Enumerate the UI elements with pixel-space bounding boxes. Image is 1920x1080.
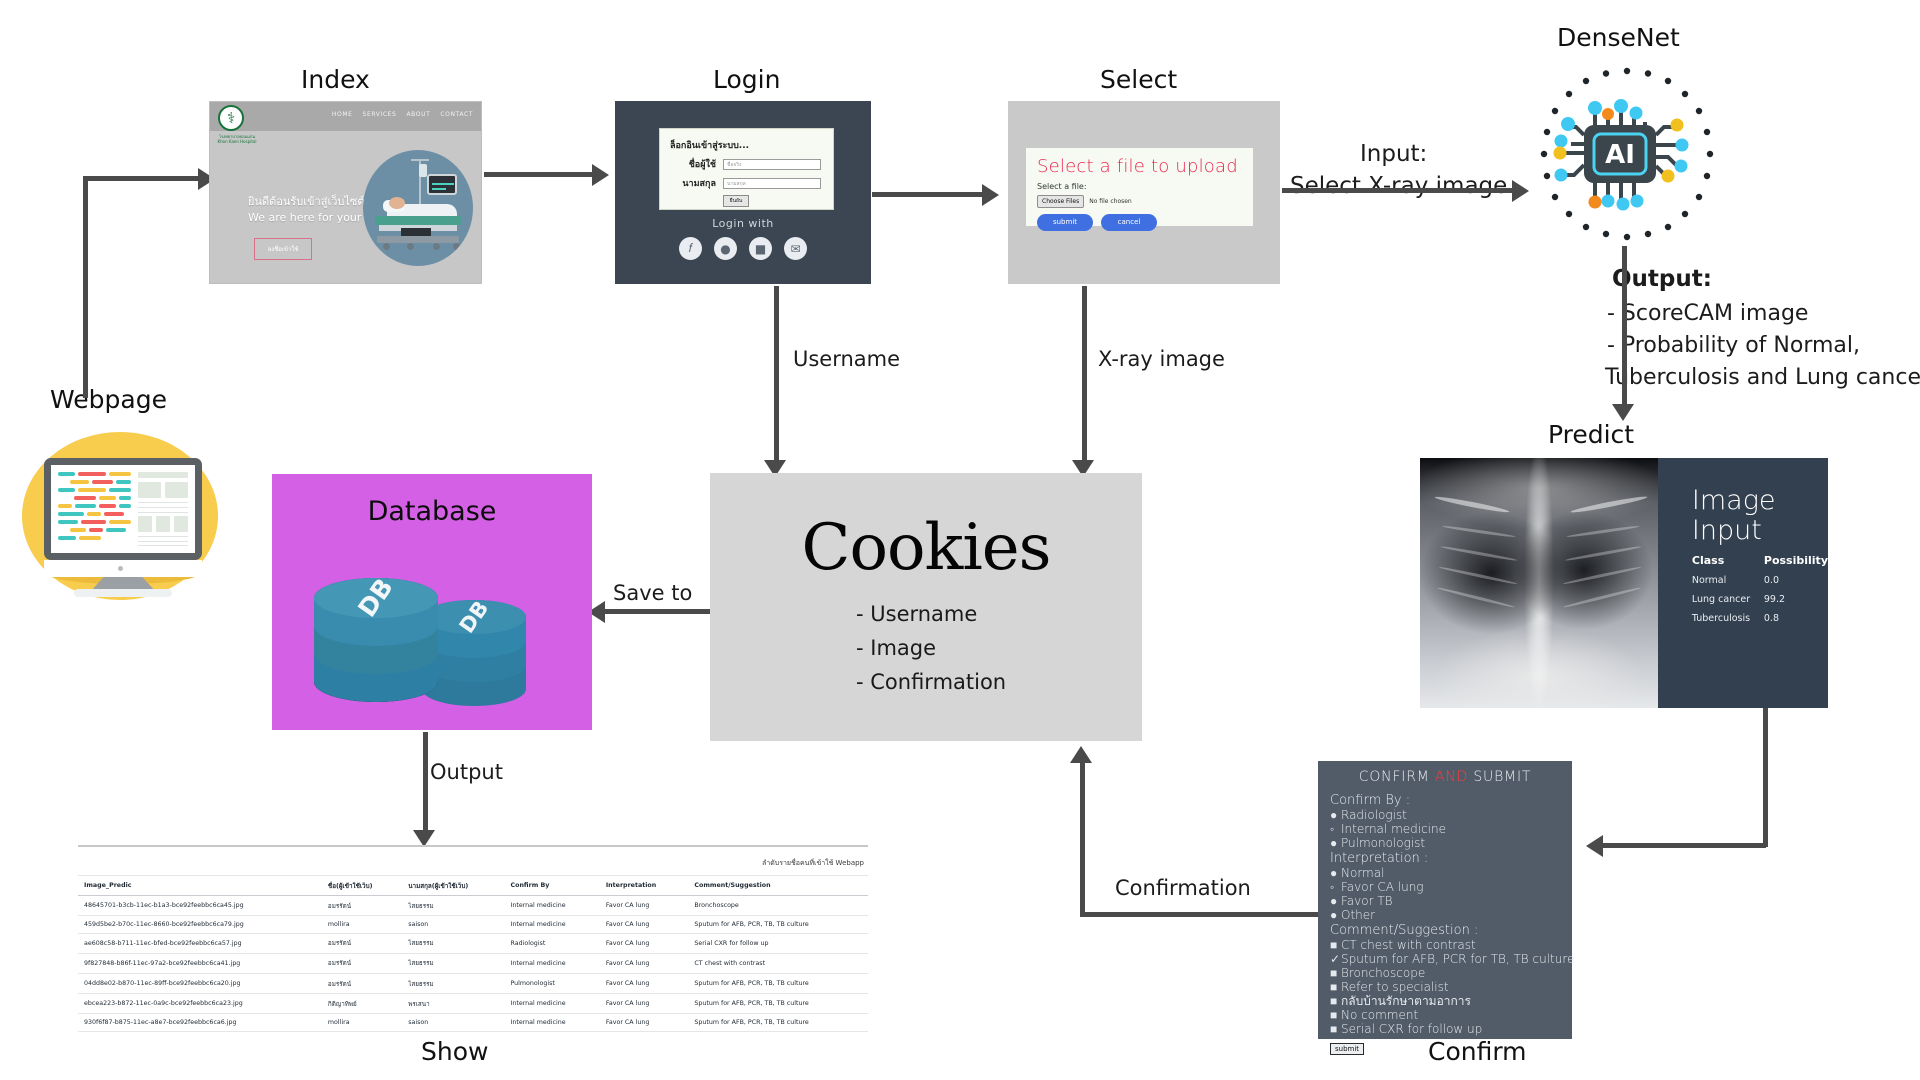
table-row: 48645701-b3cb-11ec-b1a3-bce92feebbc6ca45…: [78, 896, 868, 916]
checkbox-serial-cxr-label: Serial CXR for follow up: [1341, 1022, 1482, 1036]
cell-firstname: กิติญาทิพย์: [322, 994, 402, 1014]
login-card-title: ล็อกอินเข้าสู่ระบบ...: [670, 138, 823, 152]
checkbox-sputum-afb[interactable]: ✓Sputum for AFB, PCR for TB, TB culture: [1330, 952, 1560, 966]
cell-lastname: พรเสนา: [402, 994, 504, 1014]
upload-buttons[interactable]: submit cancel: [1037, 214, 1242, 231]
login-with-label: Login with: [615, 217, 871, 230]
database-title: Database: [272, 474, 592, 527]
arrow-predict-to-confirm-vertical: [1763, 708, 1768, 847]
checkbox-bronchoscope-label: Bronchoscope: [1341, 966, 1425, 980]
facebook-icon[interactable]: 𝑓: [679, 237, 702, 260]
cell-image-predic: 930f6f87-b875-11ec-a8e7-bce92feebbc6ca6.…: [78, 1014, 322, 1031]
confirm-submit-button[interactable]: submit: [1330, 1043, 1364, 1055]
index-navbar: HOME SERVICES ABOUT CONTACT: [210, 102, 481, 131]
cell-lastname: ไสยธรรม: [402, 896, 504, 916]
edge-label-output-l2: - Probability of Normal,: [1607, 333, 1860, 358]
th-comment: Comment/Suggestion: [688, 876, 868, 896]
cell-confirm-by: Internal medicine: [505, 896, 600, 916]
cell-confirm-by: Radiologist: [505, 933, 600, 953]
checkbox-sputum-afb-label: Sputum for AFB, PCR for TB, TB culture: [1341, 952, 1574, 966]
cell-firstname: mollira: [322, 916, 402, 933]
checkbox-refer-specialist[interactable]: ■Refer to specialist: [1330, 980, 1560, 994]
group-comment-label: Comment/Suggestion :: [1330, 923, 1560, 938]
radio-favor-ca-lung-label: Favor CA lung: [1341, 880, 1424, 894]
edge-label-output-l3: Tuberculosis and Lung cancer: [1605, 365, 1920, 390]
cell-image-predic: 04dd8e02-b870-11ec-89ff-bce92feebbc6ca20…: [78, 973, 322, 993]
arrowhead-into-login: [592, 164, 609, 186]
th-firstname: ชื่อ(ผู้เข้าใช้เว็บ): [322, 876, 402, 896]
cell-confirm-by: Internal medicine: [505, 994, 600, 1014]
webpage-caption: Webpage: [50, 385, 167, 414]
chest-xray-image: [1420, 458, 1658, 708]
confirm-panel-title: CONFIRM AND SUBMIT: [1330, 769, 1560, 785]
cell-confirm-by: Internal medicine: [505, 953, 600, 973]
th-lastname: นามสกุล(ผู้เข้าใช้เว็บ): [402, 876, 504, 896]
arrowhead-into-predict: [1612, 404, 1634, 421]
cell-interpretation: Favor CA lung: [600, 973, 689, 993]
username-row: ชื่อผู้ใช้ ชื่อจริง: [670, 157, 823, 171]
list-item: - Image: [856, 631, 1142, 665]
cell-comment: Sputum for AFB, PCR, TB, TB culture: [688, 994, 868, 1014]
cell-possibility: 0.8: [1764, 613, 1779, 624]
cell-firstname: อมรรัตน์: [322, 896, 402, 916]
cell-image-predic: 48645701-b3cb-11ec-b1a3-bce92feebbc6ca45…: [78, 896, 322, 916]
upload-cancel-button[interactable]: cancel: [1101, 214, 1157, 231]
list-item: - Confirmation: [856, 665, 1142, 699]
cell-comment: Bronchoscope: [688, 896, 868, 916]
file-input-row[interactable]: Choose Files No file chosen: [1037, 195, 1242, 208]
predict-info-panel: Image Input Class Possibility Normal 0.0…: [1658, 458, 1828, 708]
edge-label-input: Input:: [1360, 141, 1427, 167]
radio-pulmonologist-label: Pulmonologist: [1341, 836, 1425, 850]
radio-radiologist-label: Radiologist: [1341, 808, 1407, 822]
index-nav-links[interactable]: HOME SERVICES ABOUT CONTACT: [332, 111, 473, 118]
edge-label-confirmation: Confirmation: [1115, 876, 1251, 900]
table-row: 459d5be2-b70c-11ec-8660-bce92feebbc6ca79…: [78, 916, 868, 933]
confirm-head-part1: CONFIRM: [1359, 769, 1435, 785]
group-confirm-by-label: Confirm By :: [1330, 793, 1560, 808]
choose-files-button[interactable]: Choose Files: [1037, 195, 1084, 208]
checkbox-serial-cxr[interactable]: ■Serial CXR for follow up: [1330, 1022, 1560, 1036]
table-row: Lung cancer 99.2: [1692, 594, 1828, 605]
cell-comment: Serial CXR for follow up: [688, 933, 868, 953]
cell-image-predic: ae608c58-b711-11ec-bfed-bce92feebbc6ca57…: [78, 933, 322, 953]
cell-class: Normal: [1692, 575, 1764, 586]
edge-label-input-detail: Select X-ray image: [1290, 173, 1507, 199]
arrowhead-into-densenet: [1512, 180, 1529, 202]
username-input[interactable]: ชื่อจริง: [723, 159, 821, 170]
layout-blocks-illustration: [138, 472, 188, 546]
cell-firstname: อมรรัตน์: [322, 973, 402, 993]
confirm-head-and: AND: [1435, 769, 1468, 785]
checkbox-ct-chest[interactable]: ■CT chest with contrast: [1330, 938, 1560, 952]
table-header-row: Image_Predic ชื่อ(ผู้เข้าใช้เว็บ) นามสกุ…: [78, 876, 868, 896]
confirm-and-submit-panel[interactable]: CONFIRM AND SUBMIT Confirm By : ●Radiolo…: [1318, 761, 1572, 1039]
cell-confirm-by: Internal medicine: [505, 1014, 600, 1031]
lastname-label: นามสกุล: [670, 176, 716, 190]
chat-icon[interactable]: ●: [714, 237, 737, 260]
arrow-login-to-cookies: [774, 286, 779, 466]
radio-other[interactable]: ●Other: [1330, 908, 1560, 922]
radio-pulmonologist[interactable]: ●Pulmonologist: [1330, 836, 1560, 850]
table-top-rule: [78, 845, 868, 847]
table-row: Tuberculosis 0.8: [1692, 613, 1828, 624]
cell-lastname: saison: [402, 1014, 504, 1031]
table-row: ae608c58-b711-11ec-bfed-bce92feebbc6ca57…: [78, 933, 868, 953]
arrow-select-to-cookies: [1082, 286, 1087, 466]
cell-firstname: อมรรัตน์: [322, 953, 402, 973]
th-possibility: Possibility: [1764, 554, 1828, 567]
predict-caption: Predict: [1548, 420, 1634, 449]
th-interpretation: Interpretation: [600, 876, 689, 896]
radio-internal-medicine-label: Internal medicine: [1341, 822, 1446, 836]
radio-normal[interactable]: ●Normal: [1330, 866, 1560, 880]
cell-image-predic: 459d5be2-b70c-11ec-8660-bce92feebbc6ca79…: [78, 916, 322, 933]
radio-favor-ca-lung[interactable]: ◦Favor CA lung: [1330, 880, 1560, 894]
arrow-database-to-show: [423, 732, 428, 836]
arrow-confirm-to-cookies-vertical: [1080, 760, 1085, 914]
cell-comment: Sputum for AFB, PCR, TB, TB culture: [688, 916, 868, 933]
radio-other-label: Other: [1341, 908, 1375, 922]
database-cylinders-icon: DB DB: [272, 532, 592, 732]
table-caption: ลำดับรายชื่อคนที่เข้าใช้ Webapp: [762, 858, 864, 869]
index-login-button[interactable]: ลงชื่อเข้าใช้: [254, 238, 312, 260]
cell-possibility: 99.2: [1764, 594, 1785, 605]
checkbox-refer-specialist-label: Refer to specialist: [1341, 980, 1449, 994]
upload-subtitle: Select a file:: [1037, 182, 1242, 191]
show-caption: Show: [421, 1037, 488, 1066]
arrow-webpage-to-index-vertical: [83, 176, 88, 398]
checkbox-no-comment[interactable]: ■No comment: [1330, 1008, 1560, 1022]
cell-confirm-by: Pulmonologist: [505, 973, 600, 993]
twitter-icon[interactable]: ■: [749, 237, 772, 260]
radio-favor-tb[interactable]: ●Favor TB: [1330, 894, 1560, 908]
checkbox-home-care-label: กลับบ้านรักษาตามอาการ: [1341, 994, 1471, 1008]
results-table: Image_Predic ชื่อ(ผู้เข้าใช้เว็บ) นามสกุ…: [78, 875, 868, 1032]
cell-confirm-by: Internal medicine: [505, 916, 600, 933]
cell-class: Tuberculosis: [1692, 613, 1764, 624]
densenet-caption: DenseNet: [1557, 23, 1680, 52]
login-screenshot[interactable]: ล็อกอินเข้าสู่ระบบ... ชื่อผู้ใช้ ชื่อจริ…: [615, 101, 871, 284]
lastname-input[interactable]: นามสกุล: [723, 178, 821, 189]
cell-comment: Sputum for AFB, PCR, TB, TB culture: [688, 1014, 868, 1031]
cell-interpretation: Favor CA lung: [600, 1014, 689, 1031]
hospital-bed-illustration: [363, 150, 473, 266]
cell-image-predic: ebcea223-b872-11ec-0a9c-bce92feebbc6ca23…: [78, 994, 322, 1014]
cell-lastname: ไสยธรรม: [402, 933, 504, 953]
nav-home[interactable]: HOME: [332, 111, 353, 118]
nav-services[interactable]: SERVICES: [363, 111, 397, 118]
username-label: ชื่อผู้ใช้: [670, 157, 716, 171]
nav-about[interactable]: ABOUT: [406, 111, 430, 118]
arrow-select-to-densenet: [1282, 188, 1514, 193]
login-form-card: ล็อกอินเข้าสู่ระบบ... ชื่อผู้ใช้ ชื่อจริ…: [659, 128, 834, 210]
cookies-node: Cookies - Username - Image - Confirmatio…: [710, 473, 1142, 741]
ai-chip-svg: AI: [1538, 65, 1716, 243]
edge-label-save-to: Save to: [613, 581, 692, 605]
cell-interpretation: Favor CA lung: [600, 916, 689, 933]
checkbox-bronchoscope[interactable]: ■Bronchoscope: [1330, 966, 1560, 980]
cell-firstname: mollira: [322, 1014, 402, 1031]
edge-label-username: Username: [793, 347, 900, 371]
diagram-canvas: Index Login Select DenseNet Predict Conf…: [0, 0, 1920, 1080]
upload-submit-button[interactable]: submit: [1037, 214, 1093, 231]
checkbox-no-comment-label: No comment: [1341, 1008, 1418, 1022]
predict-title-line1: Image: [1692, 486, 1828, 516]
arrow-densenet-to-predict: [1622, 246, 1627, 410]
lastname-row: นามสกุล นามสกุล: [670, 176, 823, 190]
arrow-webpage-to-index-horizontal: [83, 176, 201, 181]
cell-interpretation: Favor CA lung: [600, 896, 689, 916]
cell-possibility: 0.0: [1764, 575, 1779, 586]
social-login-row[interactable]: 𝑓 ● ■ ✉: [615, 237, 871, 260]
th-image-predic: Image_Predic: [78, 876, 322, 896]
login-submit-button[interactable]: ยืนยัน: [723, 195, 749, 207]
arrow-confirm-to-cookies-horizontal: [1080, 912, 1318, 917]
results-table-body: 48645701-b3cb-11ec-b1a3-bce92feebbc6ca45…: [78, 896, 868, 1031]
index-caption: Index: [301, 65, 370, 94]
th-class: Class: [1692, 554, 1764, 567]
table-row: 930f6f87-b875-11ec-a8e7-bce92feebbc6ca6.…: [78, 1014, 868, 1031]
cell-lastname: ไสยธรรม: [402, 953, 504, 973]
login-caption: Login: [713, 65, 780, 94]
upload-title: Select a file to upload: [1037, 157, 1242, 177]
cell-interpretation: Favor CA lung: [600, 994, 689, 1014]
select-caption: Select: [1100, 65, 1177, 94]
cell-image-predic: 9f827848-b86f-11ec-97a2-bce92feebbc6ca41…: [78, 953, 322, 973]
email-icon[interactable]: ✉: [784, 237, 807, 260]
table-row: 9f827848-b86f-11ec-97a2-bce92feebbc6ca41…: [78, 953, 868, 973]
confirm-head-part2: SUBMIT: [1468, 769, 1531, 785]
database-node: Database DB DB: [272, 474, 592, 730]
hospital-logo-text: โรงพยาบาลขอนแก่นKhon Kaen Hospital: [213, 134, 261, 145]
prediction-table: Class Possibility Normal 0.0 Lung cancer…: [1692, 554, 1828, 624]
edge-label-xray-image: X-ray image: [1098, 347, 1225, 371]
select-screenshot[interactable]: Select a file to upload Select a file: C…: [1008, 101, 1280, 284]
th-confirm-by: Confirm By: [505, 876, 600, 896]
cell-firstname: อมรรัตน์: [322, 933, 402, 953]
group-interpretation-label: Interpretation :: [1330, 851, 1560, 866]
radio-radiologist[interactable]: ●Radiologist: [1330, 808, 1560, 822]
file-status-text: No file chosen: [1089, 198, 1132, 205]
arrowhead-into-select: [982, 184, 999, 206]
cell-comment: Sputum for AFB, PCR, TB, TB culture: [688, 973, 868, 993]
radio-internal-medicine[interactable]: ◦Internal medicine: [1330, 822, 1560, 836]
index-screenshot[interactable]: HOME SERVICES ABOUT CONTACT ⚕ โรงพยาบาลข…: [209, 101, 482, 284]
cookies-title: Cookies: [710, 473, 1142, 585]
cell-interpretation: Favor CA lung: [600, 933, 689, 953]
predict-title-line2: Input: [1692, 516, 1828, 546]
densenet-ai-chip-icon: AI: [1538, 65, 1716, 243]
arrow-login-to-select: [872, 192, 984, 197]
webpage-monitor-icon: [18, 424, 226, 610]
arrow-cookies-to-database: [600, 609, 710, 614]
radio-favor-tb-label: Favor TB: [1341, 894, 1393, 908]
edge-label-output-l1: - ScoreCAM image: [1607, 301, 1808, 326]
hospital-logo-icon: ⚕: [218, 105, 244, 131]
predict-result-panel: Image Input Class Possibility Normal 0.0…: [1420, 458, 1828, 708]
cookies-list: - Username - Image - Confirmation: [856, 597, 1142, 699]
show-results-table: ลำดับรายชื่อคนที่เข้าใช้ Webapp Image_Pr…: [78, 845, 868, 1010]
checkbox-home-care[interactable]: ■กลับบ้านรักษาตามอาการ: [1330, 994, 1560, 1008]
ai-chip-label: AI: [1605, 140, 1635, 170]
list-item: - Username: [856, 597, 1142, 631]
radio-normal-label: Normal: [1341, 866, 1384, 880]
arrowhead-cookies-confirmation: [1070, 746, 1092, 763]
nav-contact[interactable]: CONTACT: [440, 111, 473, 118]
prediction-table-header: Class Possibility: [1692, 554, 1828, 567]
cell-comment: CT chest with contrast: [688, 953, 868, 973]
arrow-index-to-login: [484, 172, 594, 177]
table-row: ebcea223-b872-11ec-0a9c-bce92feebbc6ca23…: [78, 994, 868, 1014]
cell-lastname: ไสยธรรม: [402, 973, 504, 993]
arrow-predict-to-confirm-horizontal: [1598, 843, 1766, 848]
patient-monitor-icon: [427, 174, 457, 195]
table-row: Normal 0.0: [1692, 575, 1828, 586]
checkbox-ct-chest-label: CT chest with contrast: [1341, 938, 1476, 952]
upload-card: Select a file to upload Select a file: C…: [1026, 148, 1253, 226]
table-row: 04dd8e02-b870-11ec-89ff-bce92feebbc6ca20…: [78, 973, 868, 993]
cell-class: Lung cancer: [1692, 594, 1764, 605]
edge-label-db-output: Output: [430, 760, 503, 784]
code-lines-illustration: [58, 472, 131, 546]
arrowhead-into-confirm: [1586, 835, 1603, 857]
cell-interpretation: Favor CA lung: [600, 953, 689, 973]
cell-lastname: saison: [402, 916, 504, 933]
